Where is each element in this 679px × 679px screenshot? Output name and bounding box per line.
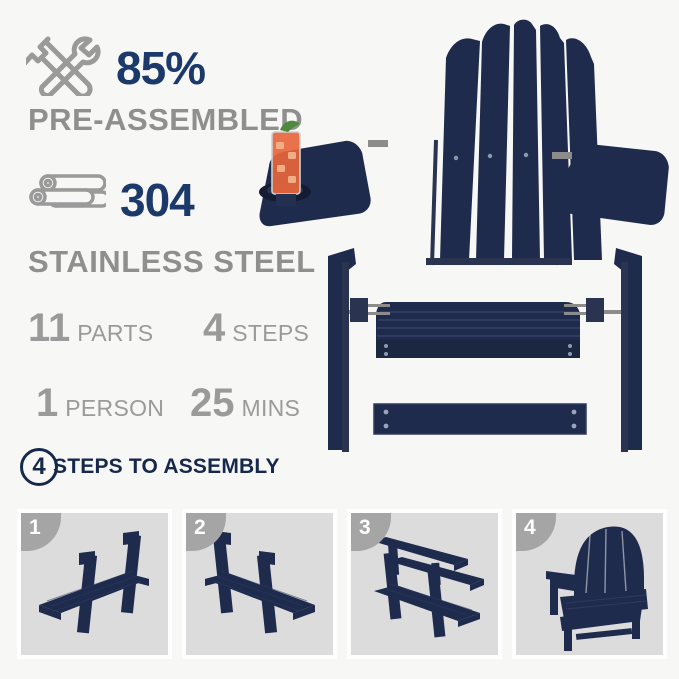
exploded-parts-diagram xyxy=(250,10,679,470)
steps-heading-title: STEPS TO ASSEMBLY xyxy=(53,455,280,479)
feature-pre-assembled: 85% xyxy=(26,34,205,101)
infographic-canvas: 85% PRE-ASSEMBLED 304 STAINLESS STEEL xyxy=(0,0,679,679)
backrest-slat-panel xyxy=(440,20,602,260)
left-armrest-with-cup-holder xyxy=(251,121,388,228)
step-card-3[interactable]: 3 xyxy=(347,509,502,659)
stat-mins-number: 25 xyxy=(190,383,235,423)
step-card-1[interactable]: 1 xyxy=(17,509,172,659)
stat-steps-number: 4 xyxy=(203,308,225,348)
wrench-screwdriver-icon xyxy=(26,34,102,101)
stat-person-number: 1 xyxy=(36,383,58,423)
seat-slat-assembly xyxy=(376,302,580,358)
right-leg xyxy=(603,248,642,452)
left-leg xyxy=(328,248,367,452)
feature-stainless-steel: 304 xyxy=(26,172,194,227)
right-armrest xyxy=(551,138,673,227)
pre-assembled-value: 85% xyxy=(116,45,205,91)
step-card-2[interactable]: 2 xyxy=(182,509,337,659)
stat-parts-number: 11 xyxy=(28,308,70,348)
stainless-steel-value: 304 xyxy=(120,177,194,223)
stat-person: 1 PERSON xyxy=(36,383,164,423)
bottom-stretcher-rail xyxy=(374,404,586,434)
stat-person-label: PERSON xyxy=(65,395,164,422)
stat-parts-label: PARTS xyxy=(77,320,153,347)
steel-tubes-icon xyxy=(26,172,106,227)
stat-parts: 11 PARTS xyxy=(28,308,153,348)
step-card-4[interactable]: 4 xyxy=(512,509,667,659)
steps-heading: 4 STEPS TO ASSEMBLY xyxy=(20,448,280,486)
